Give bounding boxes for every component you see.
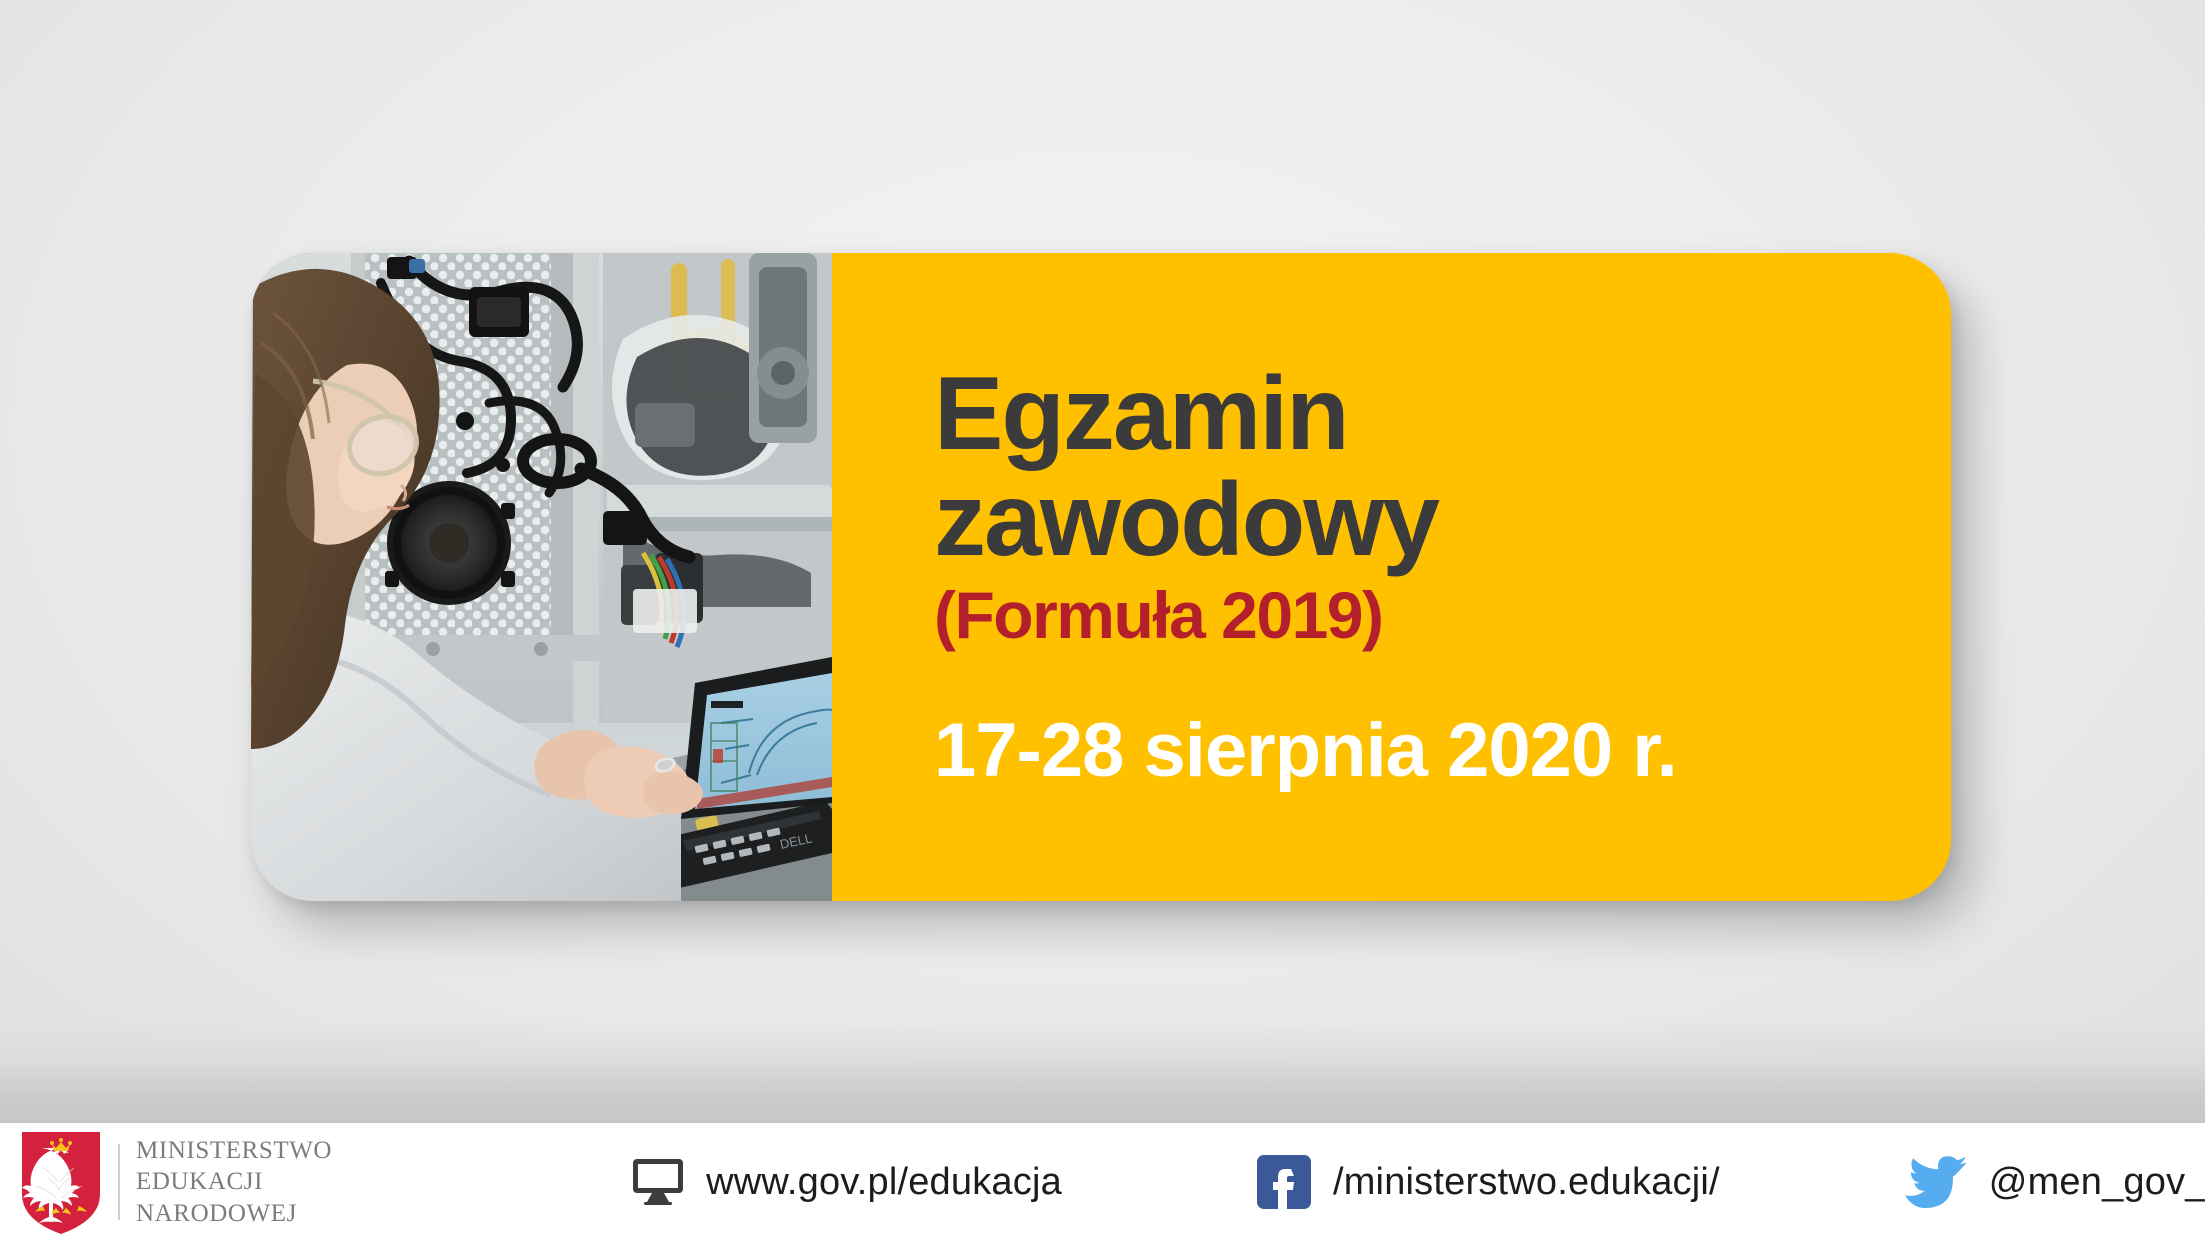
twitter-handle: @men_gov_pl (1989, 1161, 2205, 1204)
polish-eagle-crest-icon (18, 1128, 104, 1236)
twitter-link[interactable]: @men_gov_pl (1905, 1123, 2205, 1241)
vocational-workshop-photo: DELL (251, 253, 832, 901)
ministry-name: MINISTERSTWO EDUKACJI NARODOWEJ (136, 1135, 332, 1230)
facebook-icon (1257, 1155, 1311, 1209)
poster-stage: DELL (0, 0, 2205, 1241)
facebook-handle: /ministerstwo.edukacji/ (1333, 1161, 1720, 1204)
footer-bar: MINISTERSTWO EDUKACJI NARODOWEJ www.gov.… (0, 1123, 2205, 1241)
page-title: Egzamin zawodowy (934, 361, 1951, 573)
twitter-bird-icon (1905, 1156, 1967, 1208)
card-text-panel: Egzamin zawodowy (Formuła 2019) 17-28 si… (832, 253, 1951, 901)
announcement-card: DELL (251, 253, 1951, 901)
exam-date: 17-28 sierpnia 2020 r. (934, 709, 1951, 793)
website-url: www.gov.pl/edukacja (706, 1161, 1062, 1204)
facebook-link[interactable]: /ministerstwo.edukacji/ (1257, 1123, 1720, 1241)
ministry-branding: MINISTERSTWO EDUKACJI NARODOWEJ (18, 1123, 332, 1241)
crest-divider (118, 1144, 120, 1220)
formula-subtitle: (Formuła 2019) (934, 579, 1951, 653)
backdrop-bottom-band (0, 1020, 2205, 1123)
monitor-icon (632, 1158, 684, 1206)
website-link[interactable]: www.gov.pl/edukacja (632, 1123, 1062, 1241)
